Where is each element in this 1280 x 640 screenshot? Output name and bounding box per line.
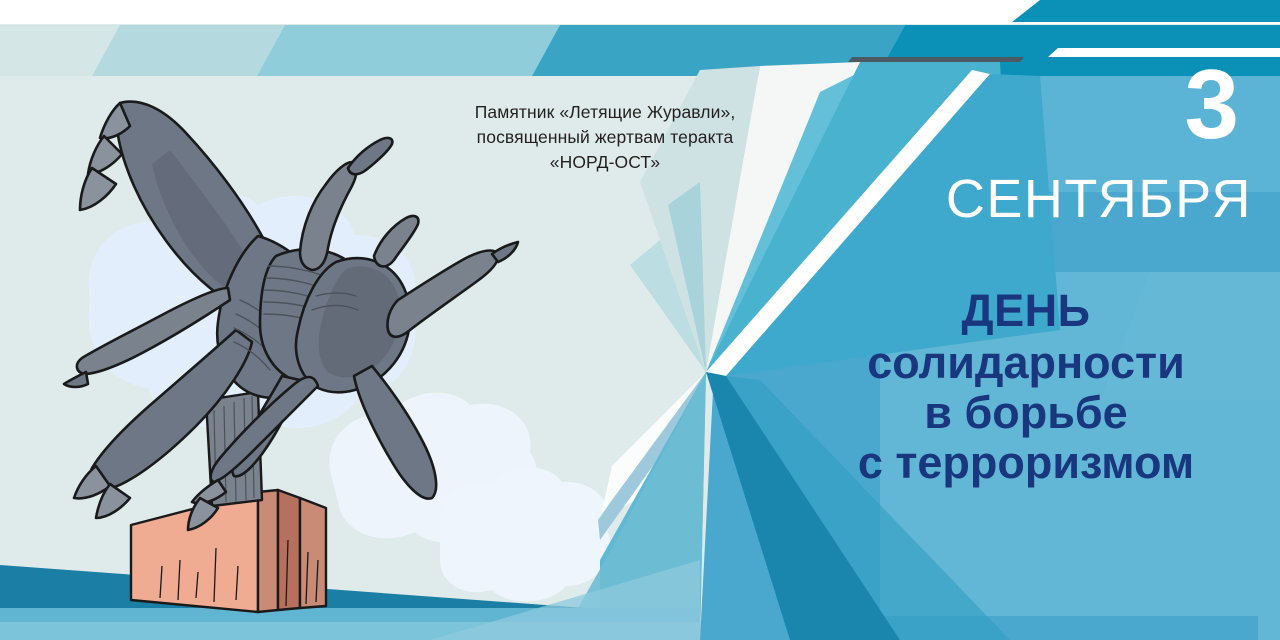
headline-line-1: ДЕНЬ [800,288,1252,340]
pedestal [131,490,326,612]
crane-right-wing-lower [354,366,436,499]
headline-line-4: с терроризмом [800,440,1252,485]
date-month-label: СЕНТЯБРЯ [946,170,1252,228]
monument-caption: Памятник «Летящие Журавли», посвященный … [430,100,780,175]
pedestal-edge [258,490,278,612]
headline-block: ДЕНЬ солидарности в борьбе с терроризмом [800,288,1252,485]
pedestal-side [300,498,326,608]
crane-left-beak [64,372,88,387]
headline-line-3: в борьбе [800,390,1252,440]
poster-canvas: Памятник «Летящие Журавли», посвященный … [0,0,1280,640]
crane-right-head [374,216,418,266]
headline-line-2: солидарности [800,340,1252,390]
pedestal-side-dark [278,490,300,610]
date-day-number: 3 [1184,56,1238,152]
crane-middle-head [348,138,392,174]
crane-right-beak [492,242,518,262]
crane-left-feather-3 [80,168,116,210]
